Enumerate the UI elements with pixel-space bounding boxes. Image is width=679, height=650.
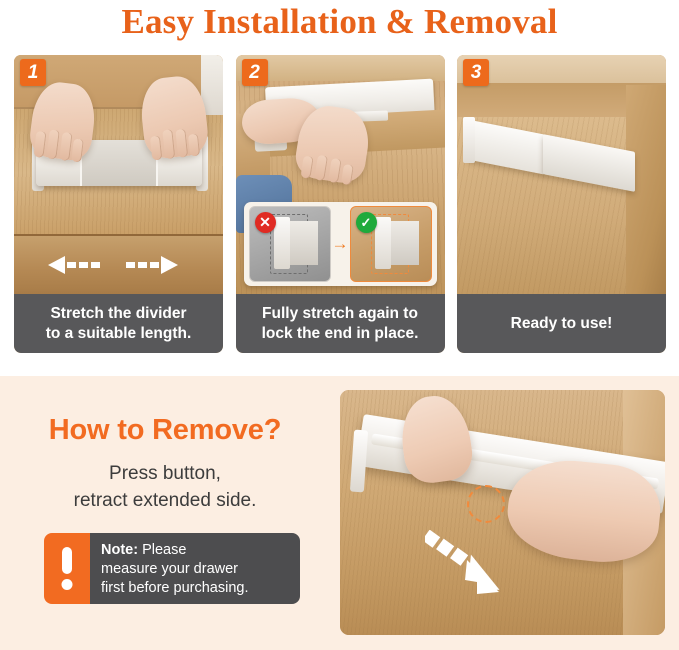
- check-icon: ✓: [356, 212, 377, 233]
- divider-body: [391, 221, 419, 265]
- step-caption-line-1: Stretch the divider: [50, 304, 186, 324]
- step-caption-line-2: to a suitable length.: [46, 324, 192, 344]
- step-2-photo: ✕ → ✓: [236, 55, 445, 294]
- step-card-3: 3 Ready to use!: [457, 55, 666, 353]
- step-3-photo: [457, 55, 666, 294]
- note-badge: Note: Please measure your drawer first b…: [44, 533, 300, 604]
- note-line-1: Please: [138, 542, 186, 558]
- step-number-badge-1: 1: [20, 59, 46, 86]
- comparison-inset: ✕ → ✓: [244, 202, 437, 286]
- divider-body: [290, 221, 318, 265]
- stretch-direction-arrow-icon: [48, 252, 178, 278]
- cross-icon: ✕: [255, 212, 276, 233]
- removal-subtext-line-1: Press button,: [109, 463, 221, 484]
- installation-section: Easy Installation & Removal: [0, 0, 679, 376]
- removal-subtext: Press button, retract extended side.: [0, 460, 330, 514]
- step-number-badge-3: 3: [463, 59, 489, 86]
- step-caption-line-1: Ready to use!: [511, 314, 613, 334]
- correct-example: ✓: [350, 206, 432, 282]
- step-number-badge-2: 2: [242, 59, 268, 86]
- step-caption-line-2: lock the end in place.: [262, 324, 419, 344]
- divider-end-cap: [463, 117, 475, 163]
- step-caption-1: Stretch the divider to a suitable length…: [14, 294, 223, 353]
- removal-photo: [340, 390, 665, 635]
- exclamation-icon: [44, 533, 90, 604]
- removal-heading: How to Remove?: [0, 414, 330, 447]
- divider-end: [274, 217, 290, 269]
- step-caption-2: Fully stretch again to lock the end in p…: [236, 294, 445, 353]
- note-label: Note:: [101, 542, 138, 558]
- note-text: Note: Please measure your drawer first b…: [90, 533, 300, 604]
- removal-subtext-line-2: retract extended side.: [74, 490, 257, 511]
- release-button-highlight-icon: [467, 485, 505, 523]
- step-card-1: 1 Stretch the divider to a suitable leng…: [14, 55, 223, 353]
- step-1-photo: [14, 55, 223, 294]
- note-line-3: first before purchasing.: [101, 580, 249, 596]
- step-card-2: ✕ → ✓ 2 Fully stretch again to lock the …: [236, 55, 445, 353]
- inset-arrow-icon: →: [331, 234, 350, 254]
- note-line-2: measure your drawer: [101, 561, 238, 577]
- retract-direction-arrow-icon: [425, 530, 505, 600]
- removal-text-column: How to Remove? Press button, retract ext…: [0, 376, 330, 650]
- step-caption-line-1: Fully stretch again to: [262, 304, 418, 324]
- steps-row: 1 Stretch the divider to a suitable leng…: [14, 55, 666, 355]
- page-title: Easy Installation & Removal: [0, 0, 679, 44]
- divider-end: [375, 217, 391, 269]
- step-caption-3: Ready to use!: [457, 294, 666, 353]
- incorrect-example: ✕: [249, 206, 331, 282]
